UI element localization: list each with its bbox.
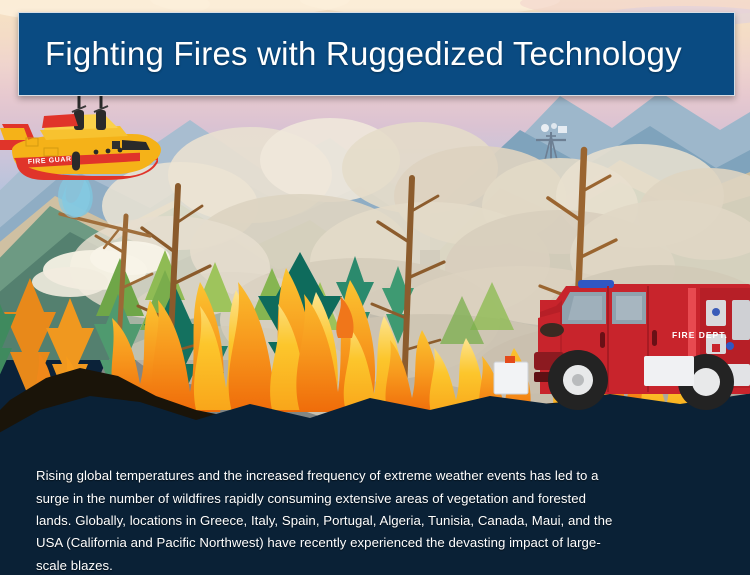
page-title: Fighting Fires with Ruggedized Technolog… (19, 36, 682, 72)
description-text: Rising global temperatures and the incre… (36, 465, 616, 575)
equipment-box (494, 362, 528, 394)
title-banner: Fighting Fires with Ruggedized Technolog… (18, 12, 735, 96)
fire-truck-marking: FIRE DEPT. (672, 330, 728, 340)
fire-truck: FIRE DEPT. (534, 280, 750, 410)
infographic-page: FIRE DEPT. (0, 0, 750, 575)
equipment-box-handle (505, 356, 515, 363)
